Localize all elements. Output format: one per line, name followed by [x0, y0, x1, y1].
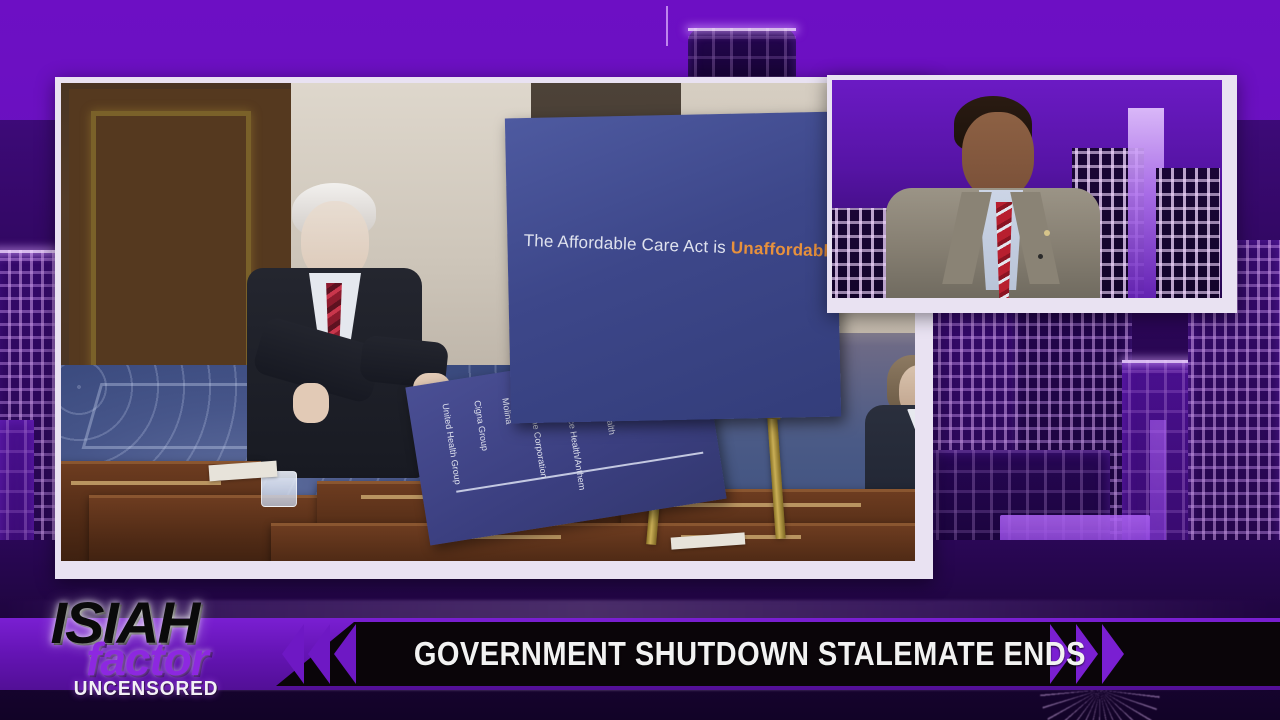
inset-video-studio-host [832, 80, 1222, 298]
chart-label: United Health Group [440, 403, 463, 486]
building-roof-light [1122, 360, 1196, 363]
poster-text-plain: The Affordable Care Act is [523, 231, 731, 257]
senator-hand [293, 383, 329, 423]
desk-edge-highlight [71, 481, 221, 485]
logo-uncensored-text: UNCENSORED [74, 678, 219, 701]
headline-text: GOVERNMENT SHUTDOWN STALEMATE ENDS [414, 635, 1086, 673]
chart-category-labels: United Health Group Cigna Group Molina C… [443, 396, 465, 534]
poster-text-highlight: Unaffordable [731, 238, 839, 261]
broadcast-screenshot: Health C United Health Group Cigna Group… [0, 0, 1280, 720]
senate-desk-front-row [271, 523, 915, 561]
host-lapel-mic [1038, 254, 1043, 259]
door-gold-trim [91, 111, 251, 371]
backdrop-tower-windows [1156, 168, 1220, 298]
poster-affordable-care-act: The Affordable Care Act is Unaffordable [505, 112, 841, 424]
show-logo: ISIAH factor UNCENSORED [40, 590, 270, 702]
antenna-mast [666, 6, 668, 46]
chart-label: Cigna Group [472, 400, 490, 452]
main-video-senate-floor: Health C United Health Group Cigna Group… [61, 83, 915, 561]
headline-container: GOVERNMENT SHUTDOWN STALEMATE ENDS [300, 618, 1200, 690]
senate-chamber: Health C United Health Group Cigna Group… [61, 83, 915, 561]
host-lapel-pin [1044, 230, 1050, 236]
building-roof-light [0, 250, 56, 253]
backdrop-tower [1156, 168, 1220, 298]
poster-headline: The Affordable Care Act is Unaffordable [523, 231, 853, 263]
host-head [962, 112, 1034, 198]
